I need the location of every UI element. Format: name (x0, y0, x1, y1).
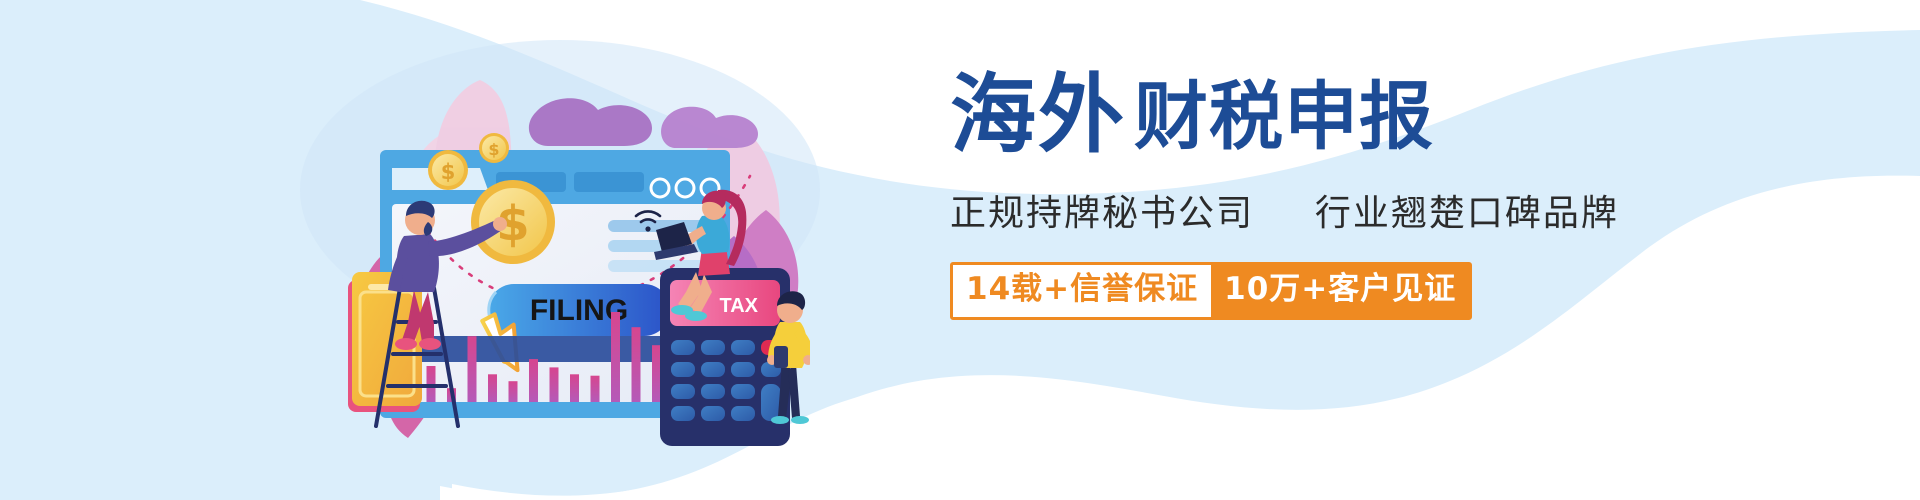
subtitle: 正规持牌秘书公司 行业翘楚口碑品牌 (950, 184, 1650, 236)
calculator-display-label: TAX (719, 295, 758, 317)
headline: 海外 财税申报 (950, 72, 1650, 158)
banner-copy: 海外 财税申报 正规持牌秘书公司 行业翘楚口碑品牌 14载+信誉保证 10万+客… (950, 72, 1650, 320)
subtitle-right: 行业翘楚口碑品牌 (1315, 193, 1619, 234)
coin-small-1: $ (428, 150, 468, 190)
svg-text:$: $ (441, 160, 456, 184)
bar-chart-bar (488, 374, 497, 402)
bar-chart-bar (632, 327, 641, 402)
bar-chart-bar (570, 374, 579, 402)
coin-small-2: $ (479, 133, 509, 163)
badge-group: 14载+信誉保证 10万+客户见证 (950, 262, 1472, 320)
badge-customers: 10万+客户见证 (1211, 265, 1469, 317)
badge-credibility: 14载+信誉保证 (953, 265, 1211, 317)
bar-chart-bar (529, 359, 538, 402)
bar-chart-bar (550, 367, 559, 402)
coin-large: $ (471, 180, 555, 264)
bar-chart-bar (611, 312, 620, 402)
bar-chart-bar (591, 376, 600, 402)
marketing-banner: $ $ $ FILING (0, 0, 1920, 500)
bar-chart-bar (509, 381, 518, 402)
bar-chart-bar (468, 336, 477, 402)
tax-filing-illustration: $ $ $ FILING (330, 40, 810, 460)
headline-part-one: 海外 (950, 72, 1126, 158)
subtitle-left: 正规持牌秘书公司 (950, 193, 1254, 234)
headline-part-two: 财税申报 (1134, 80, 1434, 158)
bar-chart-bar (652, 345, 661, 402)
svg-text:$: $ (488, 140, 499, 159)
